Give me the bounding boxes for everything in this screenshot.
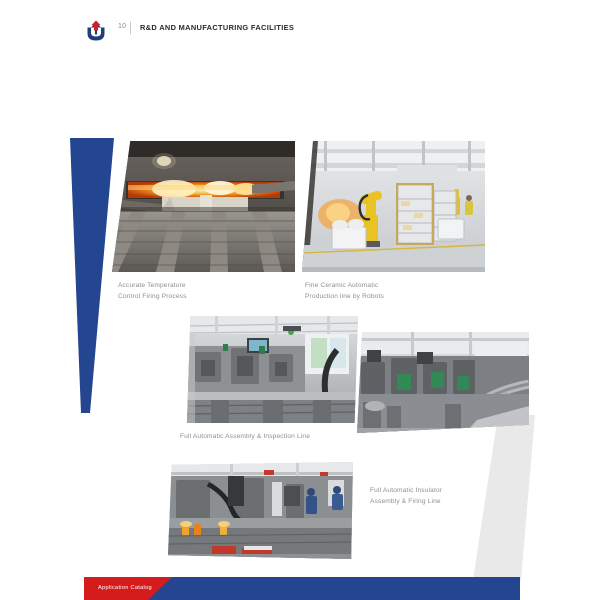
caption-robot-line: Fine Ceramic Automatic Production line b… xyxy=(305,281,384,302)
caption-assembly-inspection: Full Automatic Assembly & Inspection Lin… xyxy=(180,432,310,443)
photo-conveyor-line xyxy=(357,332,529,433)
photo-insulator-line xyxy=(168,462,353,559)
page-footer: Application Catalog xyxy=(0,570,600,600)
company-logo-shield-arrow xyxy=(84,19,108,43)
catalog-page: 10 R&D AND MANUFACTURING FACILITIES xyxy=(0,0,600,600)
photo-assembly-inspection xyxy=(187,316,358,423)
caption-insulator-line: Full Automatic Insulator Assembly & Firi… xyxy=(370,486,442,507)
caption-furnace: Accurate Temperature Control Firing Proc… xyxy=(118,281,187,302)
footer-label: Application Catalog xyxy=(98,585,152,591)
header-page-number: 10 xyxy=(118,23,126,30)
decorative-gray-band xyxy=(455,415,535,580)
photo-robot-line xyxy=(302,141,485,272)
page-title: R&D AND MANUFACTURING FACILITIES xyxy=(140,23,294,32)
header-divider xyxy=(130,22,131,34)
page-header: 10 R&D AND MANUFACTURING FACILITIES xyxy=(0,0,600,62)
photo-furnace xyxy=(112,141,295,272)
